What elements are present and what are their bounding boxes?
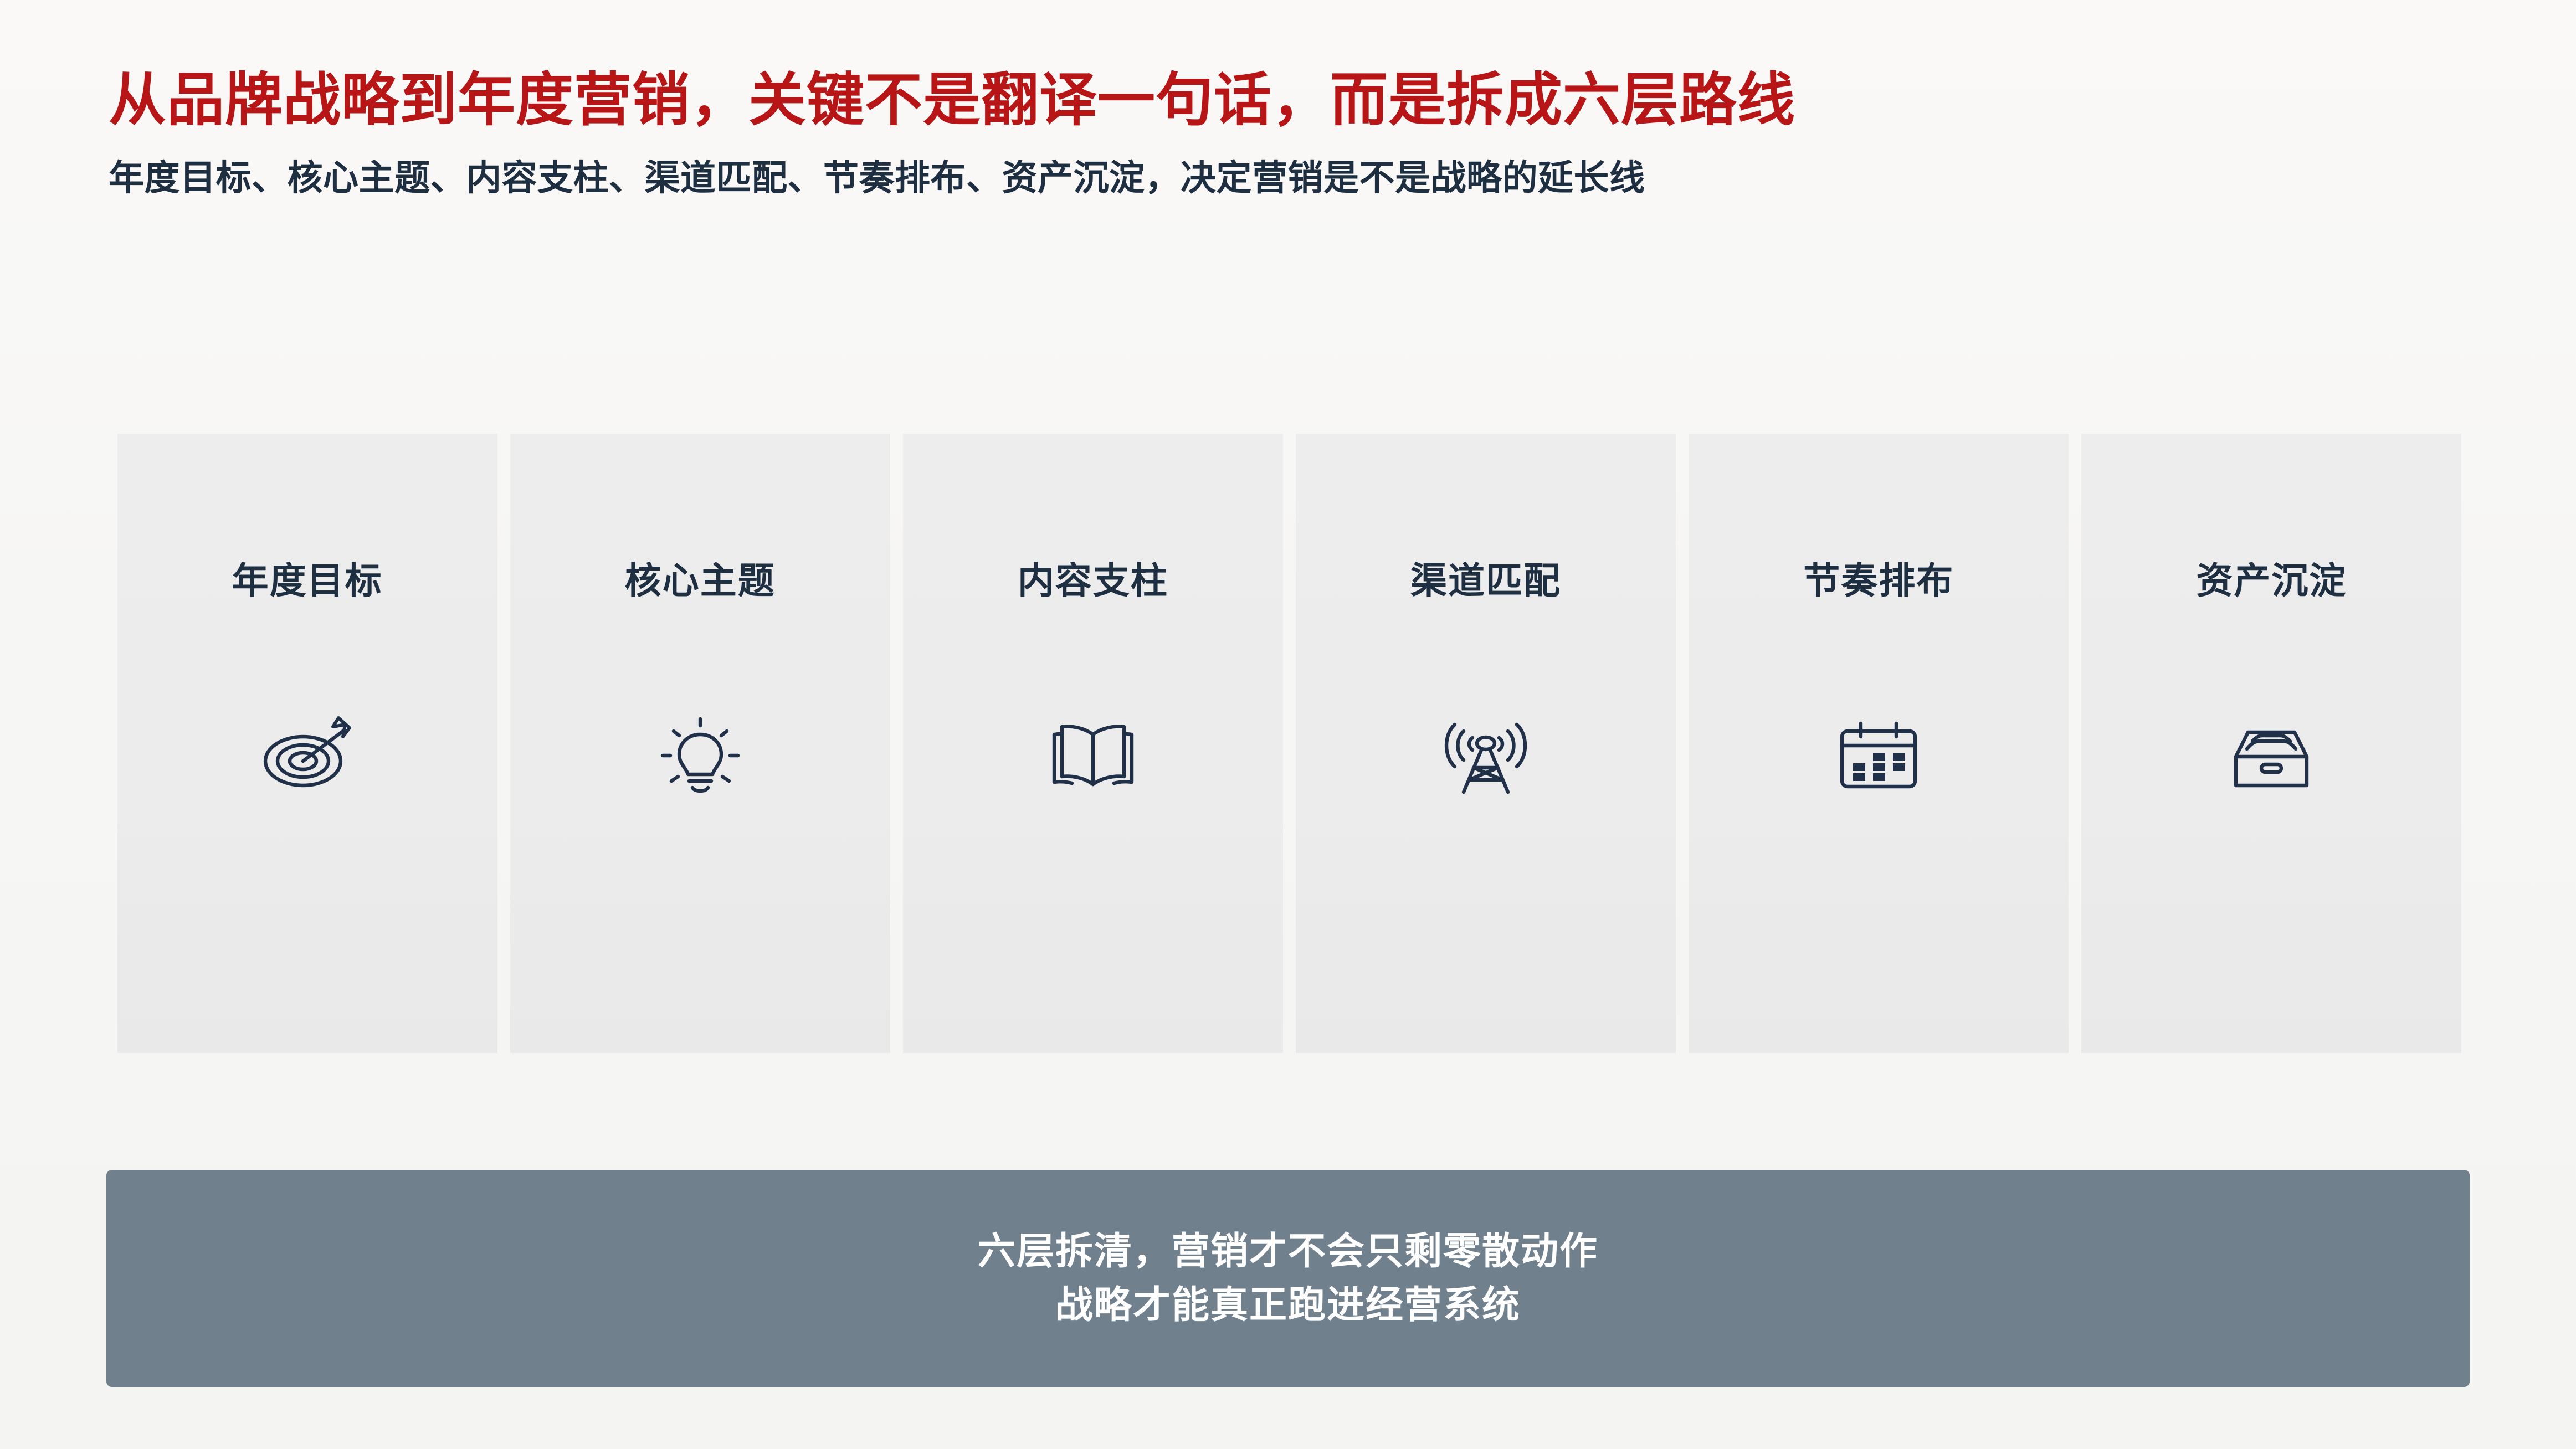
page-title: 从品牌战略到年度营销，关键不是翻译一句话，而是拆成六层路线: [109, 66, 2480, 135]
header-block: 从品牌战略到年度营销，关键不是翻译一句话，而是拆成六层路线 年度目标、核心主题、…: [109, 66, 2480, 200]
footer-line-1: 六层拆清，营销才不会只剩零散动作: [978, 1225, 1598, 1278]
card-content-pillar[interactable]: 内容支柱: [903, 434, 1283, 1053]
open-book-icon: [1035, 694, 1151, 810]
card-asset-accumulation[interactable]: 资产沉淀: [2081, 434, 2461, 1053]
archive-box-icon: [2213, 694, 2329, 810]
card-slot-2: 核心主题: [504, 434, 896, 1053]
card-slot-4: 渠道匹配: [1290, 434, 1682, 1053]
lightbulb-icon: [642, 694, 758, 810]
calendar-icon: [1820, 694, 1937, 810]
page-subtitle: 年度目标、核心主题、内容支柱、渠道匹配、节奏排布、资产沉淀，决定营销是不是战略的…: [109, 156, 2480, 200]
card-title: 渠道匹配: [1410, 551, 1561, 604]
card-channel-match[interactable]: 渠道匹配: [1296, 434, 1676, 1053]
card-title: 节奏排布: [1803, 551, 1954, 604]
card-rhythm-layout[interactable]: 节奏排布: [1689, 434, 2069, 1053]
card-slot-6: 资产沉淀: [2075, 434, 2468, 1053]
footer-banner: 六层拆清，营销才不会只剩零散动作 战略才能真正跑进经营系统: [106, 1170, 2470, 1387]
card-title: 年度目标: [232, 551, 383, 604]
card-annual-goal[interactable]: 年度目标: [117, 434, 497, 1053]
broadcast-tower-icon: [1428, 694, 1544, 810]
card-title: 核心主题: [625, 551, 776, 604]
card-title: 内容支柱: [1018, 551, 1168, 604]
card-slot-3: 内容支柱: [896, 434, 1289, 1053]
card-row: 年度目标 核心主题: [111, 434, 2468, 1053]
footer-line-2: 战略才能真正跑进经营系统: [1055, 1278, 1521, 1332]
slide-root: 从品牌战略到年度营销，关键不是翻译一句话，而是拆成六层路线 年度目标、核心主题、…: [0, 0, 2576, 1449]
card-slot-1: 年度目标: [111, 434, 504, 1053]
card-slot-5: 节奏排布: [1682, 434, 2075, 1053]
target-icon: [249, 694, 366, 810]
card-core-theme[interactable]: 核心主题: [510, 434, 890, 1053]
card-title: 资产沉淀: [2196, 551, 2347, 604]
